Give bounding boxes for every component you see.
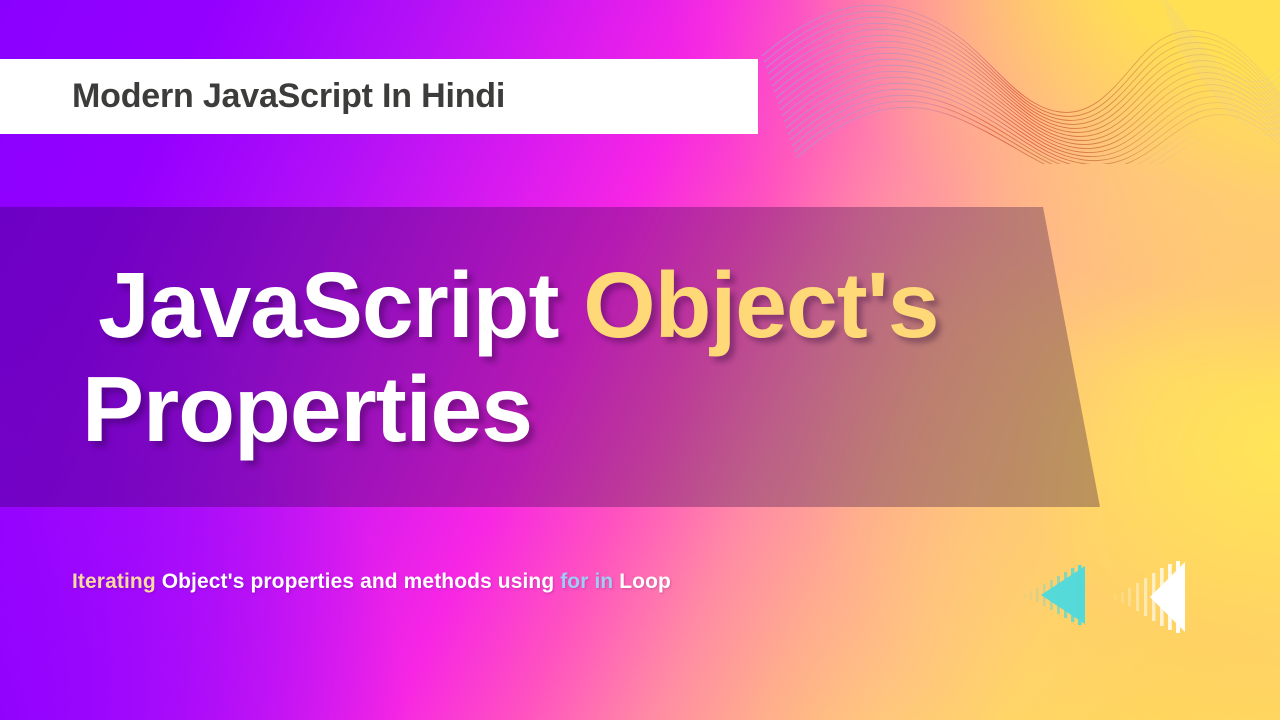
subtitle-part-iterating: Iterating <box>72 570 156 593</box>
rewind-arrow-left-cyan-icon <box>1024 565 1085 625</box>
header-banner: Modern JavaScript In Hindi <box>0 59 758 134</box>
subtitle: Iterating Object's properties and method… <box>72 570 671 594</box>
subtitle-part-forin: for in <box>560 570 613 593</box>
page-title: Modern JavaScript In Hindi <box>72 77 505 116</box>
arrow-icons-group <box>1015 552 1190 652</box>
subtitle-part-main: Object's properties and methods using <box>162 570 555 593</box>
title-highlight-band <box>0 207 1105 507</box>
thumbnail-canvas: Modern JavaScript In Hindi JavaScript Ob… <box>0 0 1280 720</box>
rewind-arrow-left-white-icon <box>1114 561 1185 633</box>
subtitle-part-loop: Loop <box>619 570 671 593</box>
